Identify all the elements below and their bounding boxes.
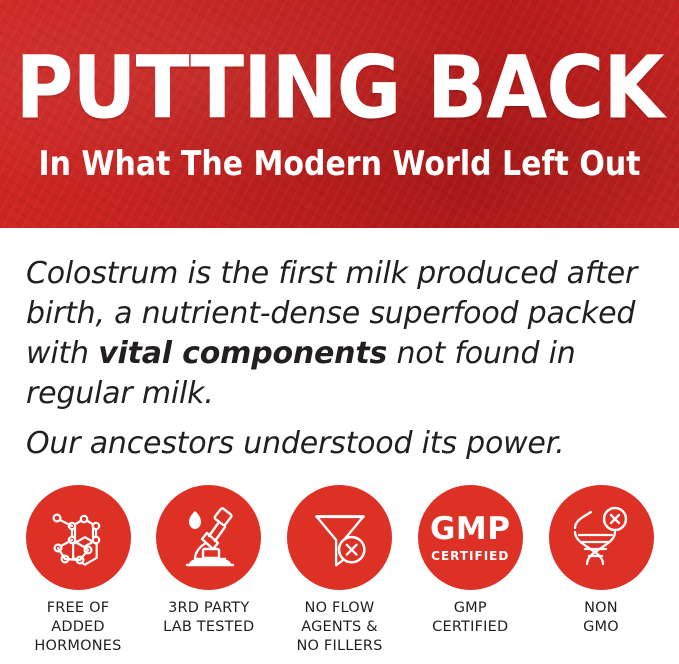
paragraph-colostrum-description: Colostrum is the first milk produced aft…	[26, 254, 653, 414]
header-banner: PUTTING BACK In What The Modern World Le…	[0, 0, 679, 228]
badge-label: 3RD PARTY LAB TESTED	[163, 599, 254, 636]
paragraph-ancestors: Our ancestors understood its power.	[26, 424, 653, 464]
funnel-no-flow-agents-icon	[305, 503, 375, 573]
gmp-certified-icon: GMP CERTIFIED	[430, 514, 511, 562]
gmp-main-text: GMP	[430, 514, 511, 545]
badge-circle: GMP CERTIFIED	[418, 485, 523, 590]
header-banner-content: PUTTING BACK In What The Modern World Le…	[0, 0, 679, 228]
badge-non-gmo: NON GMO	[539, 485, 663, 636]
badge-circle	[156, 485, 261, 590]
badge-no-flow-agents-no-fillers: NO FLOW AGENTS & NO FILLERS	[278, 485, 402, 655]
badge-label: NO FLOW AGENTS & NO FILLERS	[296, 599, 382, 655]
page-subtitle: In What The Modern World Left Out	[38, 148, 640, 182]
badge-circle	[287, 485, 392, 590]
badge-free-of-added-hormones: FREE OF ADDED HORMONES	[16, 485, 140, 655]
badge-label: FREE OF ADDED HORMONES	[34, 599, 121, 655]
badge-label: GMP CERTIFIED	[432, 599, 508, 636]
body-copy: Colostrum is the first milk produced aft…	[0, 228, 679, 463]
page-title: PUTTING BACK	[16, 47, 664, 129]
badge-3rd-party-lab-tested: 3RD PARTY LAB TESTED	[147, 485, 271, 636]
gmp-sub-text: CERTIFIED	[431, 550, 509, 562]
hormone-molecule-icon	[42, 502, 114, 574]
badge-gmp-certified: GMP CERTIFIED GMP CERTIFIED	[408, 485, 532, 636]
badge-label: NON GMO	[583, 599, 619, 636]
microscope-icon	[173, 502, 245, 574]
product-infographic: PUTTING BACK In What The Modern World Le…	[0, 0, 679, 664]
dna-non-gmo-icon	[565, 502, 637, 574]
badge-circle	[26, 485, 131, 590]
certification-badge-row: FREE OF ADDED HORMONES	[0, 485, 679, 655]
paragraph-emphasis: vital components	[98, 336, 387, 371]
badge-circle	[549, 485, 654, 590]
